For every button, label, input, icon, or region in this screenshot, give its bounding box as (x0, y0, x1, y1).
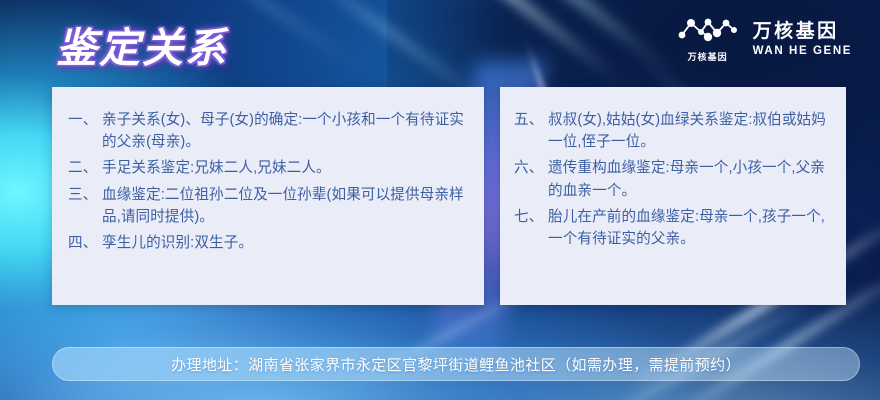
brand-name-en: WAN HE GENE (753, 45, 852, 57)
address-bar: 办理地址：湖南省张家界市永定区官黎坪街道鲤鱼池社区（如需办理，需提前预约） (52, 347, 860, 381)
poster-root: 鉴定关系 (0, 0, 880, 400)
brand-name-cn: 万核基因 (753, 22, 839, 43)
info-panel-left: 一、 亲子关系(女)、母子(女)的确定:一个小孩和一个有待证实的父亲(母亲)。 … (52, 87, 484, 305)
brand-wordmark: 万核基因 WAN HE GENE (753, 22, 852, 57)
brand-mark: 万核基因 (677, 16, 739, 63)
list-item: 二、 手足关系鉴定:兄妹二人,兄妹二人。 (68, 157, 470, 179)
list-item-text: 孪生儿的识别:双生子。 (102, 232, 470, 254)
list-item-number: 二、 (68, 157, 102, 179)
list-item-text: 手足关系鉴定:兄妹二人,兄妹二人。 (102, 157, 470, 179)
list-item: 四、 孪生儿的识别:双生子。 (68, 232, 470, 254)
list-item-number: 五、 (514, 109, 548, 131)
info-panel-left-body: 一、 亲子关系(女)、母子(女)的确定:一个小孩和一个有待证实的父亲(母亲)。 … (52, 87, 484, 254)
list-item-text: 血缘鉴定:二位祖孙二位及一位孙辈(如果可以提供母亲样品,请同时提供)。 (102, 184, 470, 228)
list-item: 三、 血缘鉴定:二位祖孙二位及一位孙辈(如果可以提供母亲样品,请同时提供)。 (68, 184, 470, 228)
list-item-text: 遗传重构血缘鉴定:母亲一个,小孩一个,父亲的血亲一个。 (548, 157, 834, 201)
address-text: 办理地址：湖南省张家界市永定区官黎坪街道鲤鱼池社区（如需办理，需提前预约） (171, 354, 741, 375)
list-item: 一、 亲子关系(女)、母子(女)的确定:一个小孩和一个有待证实的父亲(母亲)。 (68, 109, 470, 153)
list-item: 五、 叔叔(女),姑姑(女)血绿关系鉴定:叔伯或姑妈一位,侄子一位。 (514, 109, 834, 153)
list-item: 六、 遗传重构血缘鉴定:母亲一个,小孩一个,父亲的血亲一个。 (514, 157, 834, 201)
list-item-number: 三、 (68, 184, 102, 206)
list-item-number: 六、 (514, 157, 548, 179)
molecule-network-icon (677, 16, 739, 47)
list-item: 七、 胎儿在产前的血缘鉴定:母亲一个,孩子一个,一个有待证实的父亲。 (514, 206, 834, 250)
brand-logo: 万核基因 万核基因 WAN HE GENE (677, 16, 852, 63)
info-panel-right-body: 五、 叔叔(女),姑姑(女)血绿关系鉴定:叔伯或姑妈一位,侄子一位。 六、 遗传… (500, 87, 846, 250)
list-item-number: 四、 (68, 232, 102, 254)
list-item-number: 一、 (68, 109, 102, 131)
list-item-text: 亲子关系(女)、母子(女)的确定:一个小孩和一个有待证实的父亲(母亲)。 (102, 109, 470, 153)
page-title: 鉴定关系 (56, 14, 228, 74)
list-item-text: 叔叔(女),姑姑(女)血绿关系鉴定:叔伯或姑妈一位,侄子一位。 (548, 109, 834, 153)
list-item-number: 七、 (514, 206, 548, 228)
info-panel-right: 五、 叔叔(女),姑姑(女)血绿关系鉴定:叔伯或姑妈一位,侄子一位。 六、 遗传… (500, 87, 846, 305)
list-item-text: 胎儿在产前的血缘鉴定:母亲一个,孩子一个,一个有待证实的父亲。 (548, 206, 834, 250)
brand-mark-label: 万核基因 (688, 50, 728, 63)
